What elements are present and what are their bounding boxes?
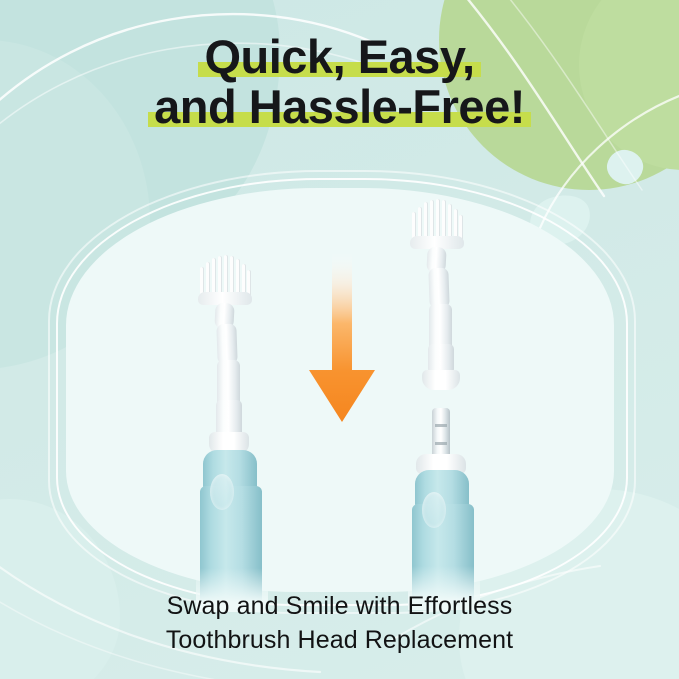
shaft-ring-lower — [435, 442, 447, 445]
detached-brush-head — [388, 192, 508, 400]
caption: Swap and Smile with Effortless Toothbrus… — [0, 589, 679, 657]
headline: Quick, Easy, and Hassle-Free! — [0, 32, 679, 132]
brush-neck-mid-right — [428, 268, 449, 309]
power-button-right[interactable] — [422, 492, 446, 528]
caption-line-1: Swap and Smile with Effortless — [0, 589, 679, 623]
swap-direction-arrow — [305, 252, 379, 424]
headline-line-2-text: and Hassle-Free! — [148, 82, 531, 132]
brush-neck-mid-left — [216, 324, 237, 365]
product-marketing-image: Quick, Easy, and Hassle-Free! — [0, 0, 679, 679]
toothbrush-handle-with-shaft — [388, 408, 508, 608]
headline-line-1: Quick, Easy, — [0, 32, 679, 82]
power-button-left[interactable] — [210, 474, 234, 510]
metal-drive-shaft — [432, 408, 450, 460]
caption-line-2: Toothbrush Head Replacement — [0, 623, 679, 657]
headline-line-1-text: Quick, Easy, — [198, 32, 480, 82]
shaft-ring-upper — [435, 424, 447, 427]
headline-line-2: and Hassle-Free! — [0, 82, 679, 132]
assembled-toothbrush — [176, 248, 296, 608]
detached-head-socket — [422, 370, 460, 390]
